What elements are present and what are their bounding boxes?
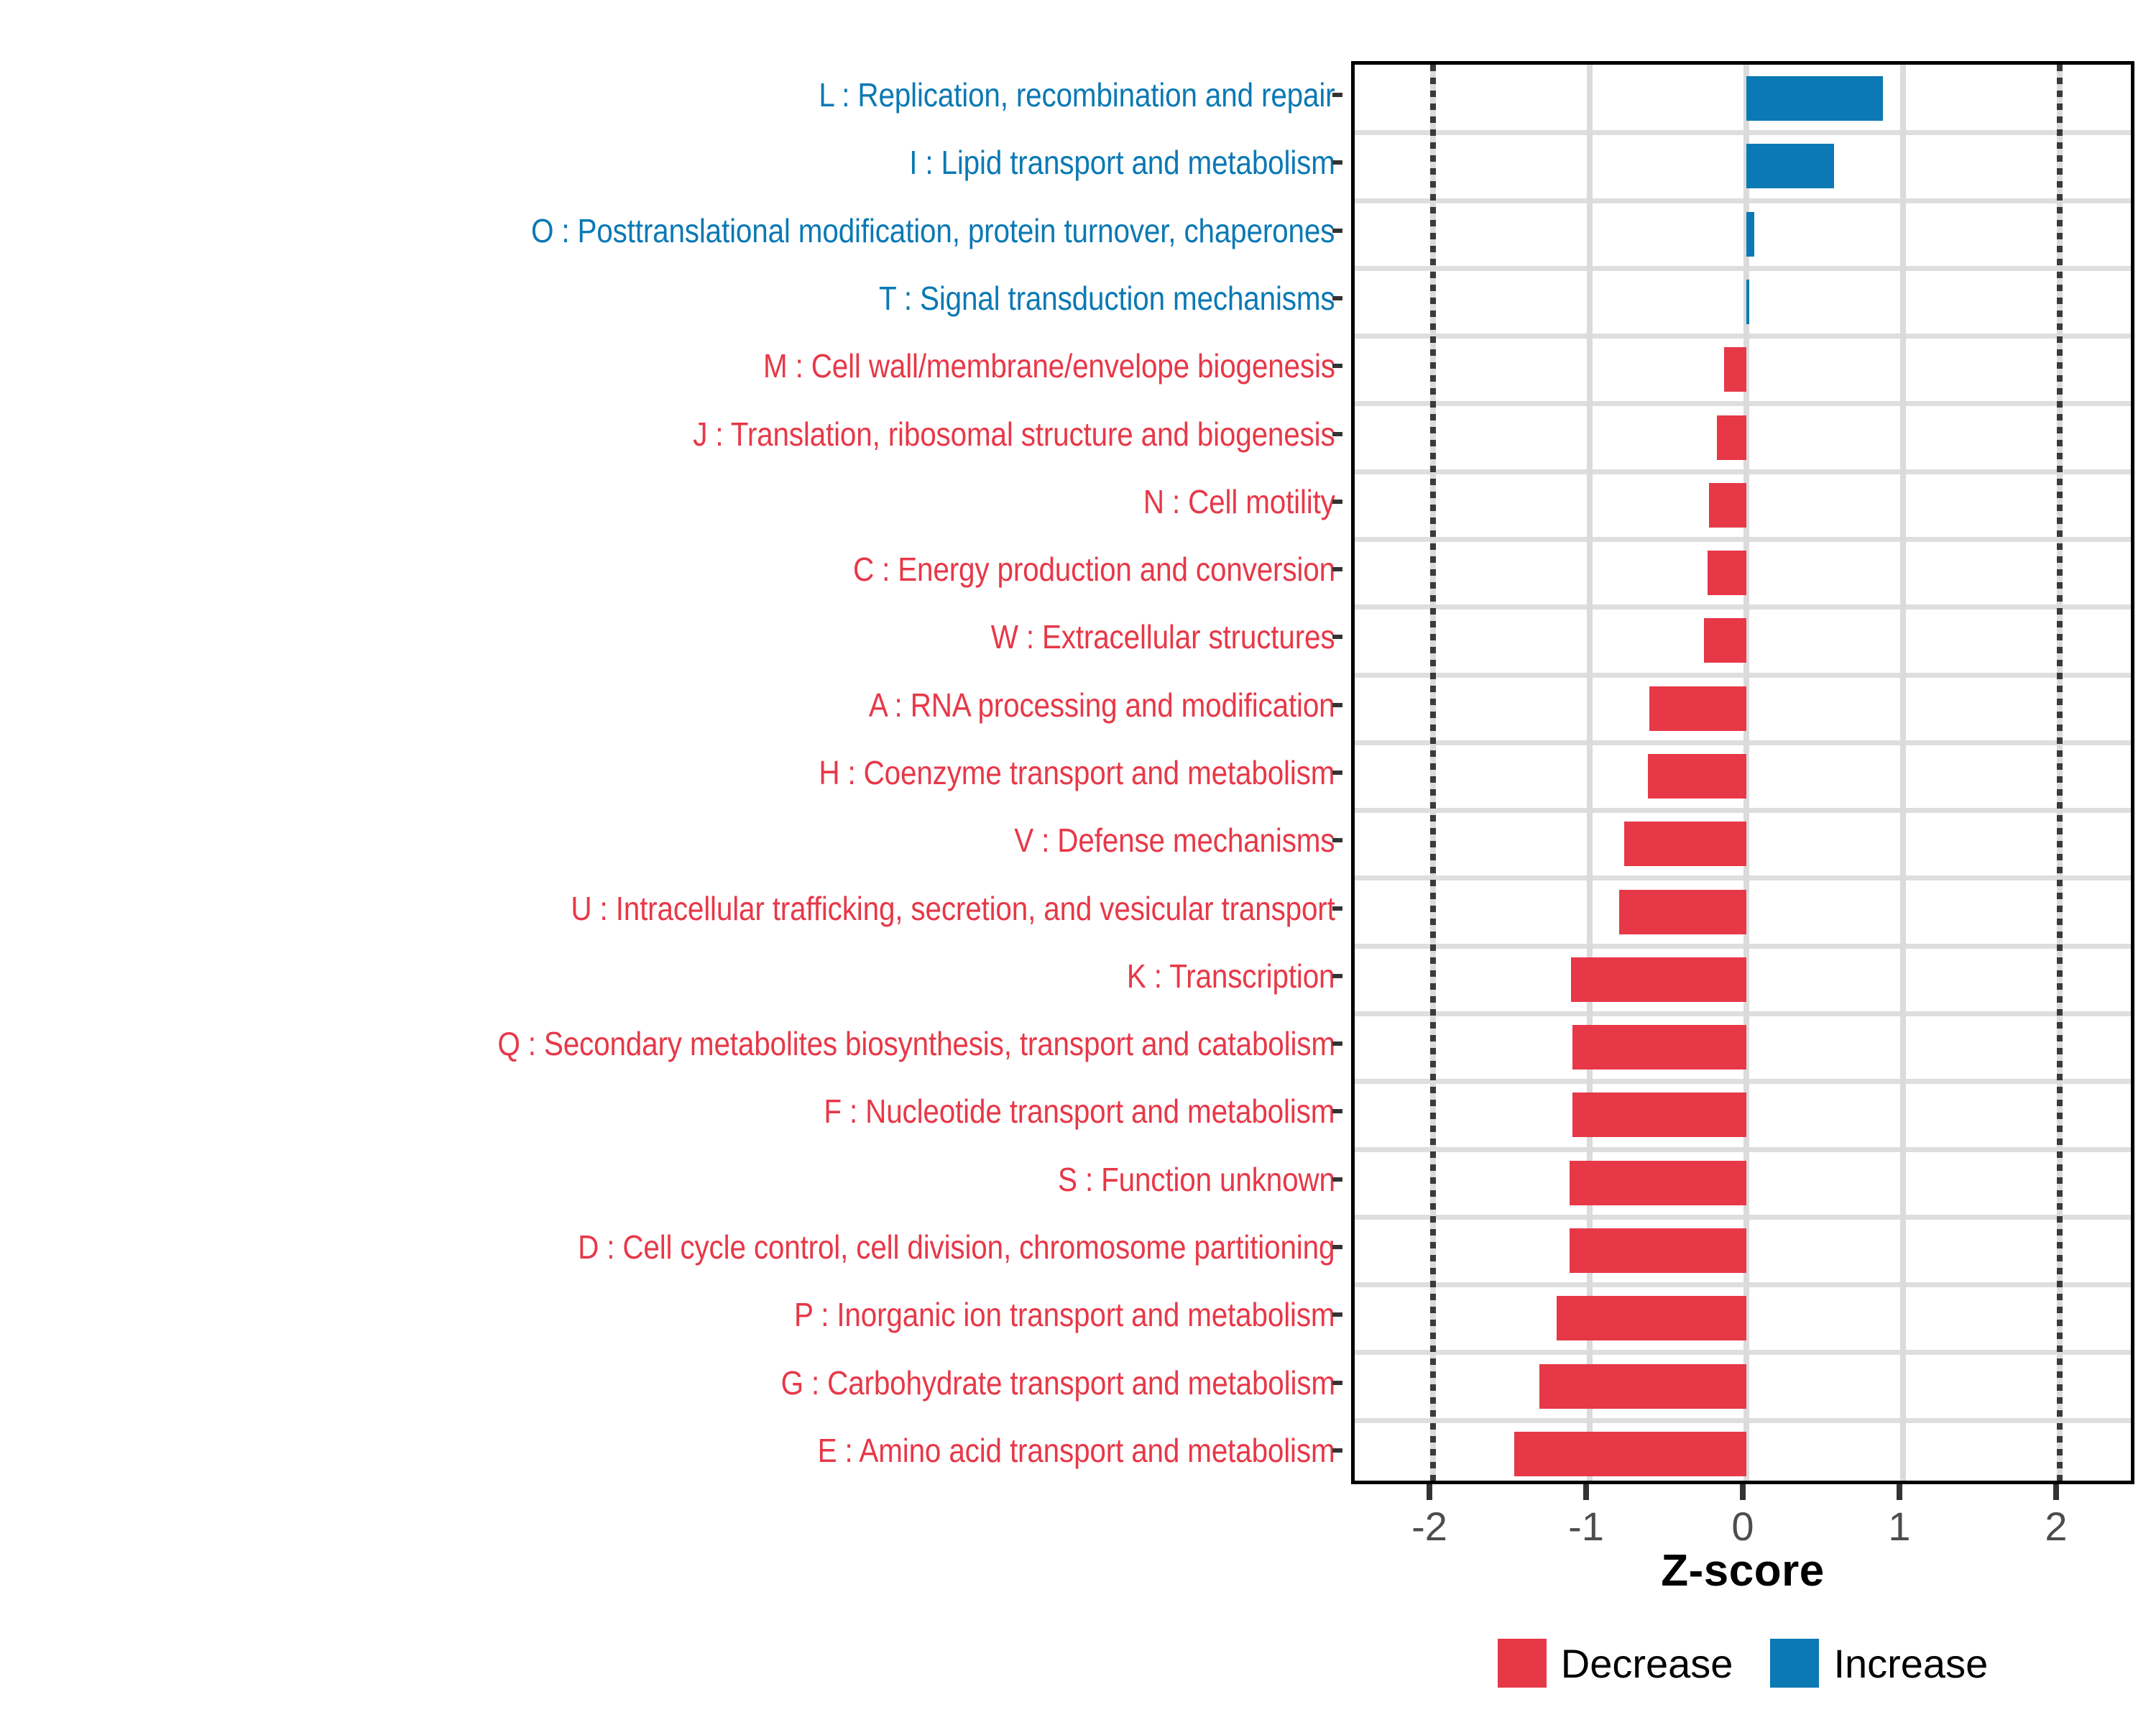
bar xyxy=(1572,1092,1746,1137)
bar xyxy=(1724,347,1746,392)
horizontal-gridline xyxy=(1355,1350,2131,1355)
legend-swatch xyxy=(1498,1639,1547,1688)
category-label-text: N : Cell motility xyxy=(1143,482,1342,521)
y-axis-tick-label: O : Posttranslational modification, prot… xyxy=(0,197,1342,264)
horizontal-gridline xyxy=(1355,130,2131,135)
bar xyxy=(1746,212,1754,257)
y-axis-tick-mark xyxy=(1332,1381,1342,1385)
y-axis-tick-mark xyxy=(1332,500,1342,504)
y-axis-tick-label: P : Inorganic ion transport and metaboli… xyxy=(0,1281,1342,1348)
x-axis-tick-label: -1 xyxy=(1568,1503,1604,1550)
y-axis-tick-label: H : Coenzyme transport and metabolism xyxy=(0,739,1342,806)
cog-category-zscore-bar-chart: L : Replication, recombination and repai… xyxy=(0,0,2156,1725)
category-label-text: W : Extracellular structures xyxy=(991,617,1342,656)
horizontal-gridline xyxy=(1355,198,2131,203)
bar xyxy=(1649,686,1746,731)
bar xyxy=(1571,957,1746,1002)
reference-line xyxy=(1430,65,1436,1481)
category-label-text: H : Coenzyme transport and metabolism xyxy=(819,753,1342,792)
y-axis-tick-mark xyxy=(1332,1245,1342,1249)
x-axis-tick-mark xyxy=(1583,1484,1589,1500)
y-axis-tick-mark xyxy=(1332,1312,1342,1317)
chart-legend: DecreaseIncrease xyxy=(1351,1639,2134,1688)
y-axis-tick-mark xyxy=(1332,703,1342,707)
x-axis-tick-label: -2 xyxy=(1411,1503,1447,1550)
y-axis-tick-label: L : Replication, recombination and repai… xyxy=(0,61,1342,129)
bar xyxy=(1572,1025,1746,1069)
category-label-text: E : Amino acid transport and metabolism xyxy=(818,1431,1342,1470)
category-label-text: U : Intracellular trafficking, secretion… xyxy=(571,889,1342,928)
y-axis-tick-label: I : Lipid transport and metabolism xyxy=(0,129,1342,196)
category-label-text: C : Energy production and conversion xyxy=(852,550,1342,589)
y-axis-tick-label: G : Carbohydrate transport and metabolis… xyxy=(0,1348,1342,1416)
bar xyxy=(1570,1228,1746,1273)
x-axis-tick-label: 1 xyxy=(1888,1503,1910,1550)
category-label-text: I : Lipid transport and metabolism xyxy=(909,143,1342,182)
bar xyxy=(1557,1296,1746,1340)
bar xyxy=(1648,754,1746,799)
horizontal-gridline xyxy=(1355,401,2131,406)
y-axis-tick-label: T : Signal transduction mechanisms xyxy=(0,264,1342,332)
y-axis-tick-mark xyxy=(1332,296,1342,300)
bar xyxy=(1709,483,1746,528)
x-axis-tick-label: 0 xyxy=(1731,1503,1754,1550)
x-axis-title: Z-score xyxy=(1351,1545,2134,1596)
bar xyxy=(1746,280,1749,324)
x-axis-tick-mark xyxy=(1897,1484,1902,1500)
category-label-text: Q : Secondary metabolites biosynthesis, … xyxy=(497,1024,1342,1063)
horizontal-gridline xyxy=(1355,333,2131,339)
category-label-text: K : Transcription xyxy=(1127,957,1342,995)
y-axis-tick-mark xyxy=(1332,567,1342,571)
y-axis-tick-mark xyxy=(1332,432,1342,436)
bar xyxy=(1708,551,1747,595)
bar xyxy=(1539,1364,1746,1409)
category-label-text: T : Signal transduction mechanisms xyxy=(879,279,1342,318)
legend-item[interactable]: Decrease xyxy=(1498,1639,1733,1688)
category-label-text: G : Carbohydrate transport and metabolis… xyxy=(780,1363,1342,1402)
y-axis-tick-label: V : Defense mechanisms xyxy=(0,806,1342,874)
y-axis-tick-label: A : RNA processing and modification xyxy=(0,671,1342,739)
bar xyxy=(1746,76,1883,121)
horizontal-gridline xyxy=(1355,266,2131,271)
legend-item[interactable]: Increase xyxy=(1770,1639,1988,1688)
y-axis-tick-mark xyxy=(1332,160,1342,165)
horizontal-gridline xyxy=(1355,604,2131,609)
y-axis-tick-mark xyxy=(1332,1448,1342,1453)
y-axis-tick-mark xyxy=(1332,1041,1342,1046)
category-label-text: O : Posttranslational modification, prot… xyxy=(531,211,1342,250)
x-axis-tick-mark xyxy=(2053,1484,2059,1500)
category-label-text: A : RNA processing and modification xyxy=(869,686,1342,724)
y-axis-tick-label: S : Function unknown xyxy=(0,1146,1342,1213)
y-axis-tick-label: K : Transcription xyxy=(0,942,1342,1010)
horizontal-gridline xyxy=(1355,740,2131,745)
category-label-text: F : Nucleotide transport and metabolism xyxy=(824,1092,1342,1131)
y-axis-tick-mark xyxy=(1332,770,1342,775)
horizontal-gridline xyxy=(1355,808,2131,813)
vertical-gridline xyxy=(1900,65,1906,1481)
y-axis-tick-label: M : Cell wall/membrane/envelope biogenes… xyxy=(0,332,1342,400)
category-label-text: V : Defense mechanisms xyxy=(1014,821,1342,860)
bar xyxy=(1704,618,1746,663)
bar xyxy=(1717,415,1746,460)
category-label-text: S : Function unknown xyxy=(1058,1160,1342,1199)
y-axis-tick-label: U : Intracellular trafficking, secretion… xyxy=(0,874,1342,942)
x-axis-tick-mark xyxy=(1740,1484,1746,1500)
y-axis-tick-mark xyxy=(1332,1109,1342,1113)
y-axis-tick-mark xyxy=(1332,364,1342,368)
plot-panel xyxy=(1351,61,2134,1484)
bar xyxy=(1514,1432,1746,1476)
horizontal-gridline xyxy=(1355,673,2131,678)
y-axis-tick-label: D : Cell cycle control, cell division, c… xyxy=(0,1213,1342,1281)
horizontal-gridline xyxy=(1355,1147,2131,1152)
y-axis-tick-label: Q : Secondary metabolites biosynthesis, … xyxy=(0,1010,1342,1077)
category-label-text: P : Inorganic ion transport and metaboli… xyxy=(794,1295,1342,1334)
bar xyxy=(1624,822,1746,866)
bar xyxy=(1570,1161,1746,1205)
y-axis-tick-mark xyxy=(1332,974,1342,978)
horizontal-gridline xyxy=(1355,1282,2131,1287)
y-axis-tick-mark xyxy=(1332,229,1342,233)
y-axis-tick-mark xyxy=(1332,93,1342,97)
plot-panel-inner xyxy=(1355,65,2131,1481)
legend-swatch xyxy=(1770,1639,1819,1688)
y-axis-tick-mark xyxy=(1332,1177,1342,1182)
y-axis-tick-mark xyxy=(1332,838,1342,842)
category-label-text: L : Replication, recombination and repai… xyxy=(819,75,1342,114)
horizontal-gridline xyxy=(1355,537,2131,542)
horizontal-gridline xyxy=(1355,1418,2131,1423)
reference-line xyxy=(2057,65,2063,1481)
horizontal-gridline xyxy=(1355,875,2131,880)
y-axis-category-labels: L : Replication, recombination and repai… xyxy=(0,61,1342,1484)
horizontal-gridline xyxy=(1355,1079,2131,1084)
bar xyxy=(1619,890,1746,934)
legend-label: Increase xyxy=(1833,1640,1988,1687)
category-label-text: J : Translation, ribosomal structure and… xyxy=(693,415,1342,454)
bar xyxy=(1746,144,1834,188)
category-label-text: M : Cell wall/membrane/envelope biogenes… xyxy=(763,346,1342,385)
x-axis-tick-label: 2 xyxy=(2045,1503,2067,1550)
horizontal-gridline xyxy=(1355,944,2131,949)
y-axis-tick-label: C : Energy production and conversion xyxy=(0,535,1342,603)
y-axis-tick-mark xyxy=(1332,635,1342,639)
horizontal-gridline xyxy=(1355,1215,2131,1220)
y-axis-tick-label: F : Nucleotide transport and metabolism xyxy=(0,1077,1342,1145)
y-axis-tick-label: E : Amino acid transport and metabolism xyxy=(0,1417,1342,1484)
y-axis-tick-label: N : Cell motility xyxy=(0,468,1342,535)
y-axis-tick-label: J : Translation, ribosomal structure and… xyxy=(0,400,1342,467)
horizontal-gridline xyxy=(1355,1011,2131,1016)
category-label-text: D : Cell cycle control, cell division, c… xyxy=(578,1228,1342,1266)
legend-label: Decrease xyxy=(1561,1640,1733,1687)
y-axis-tick-mark xyxy=(1332,906,1342,911)
x-axis-tick-mark xyxy=(1427,1484,1432,1500)
horizontal-gridline xyxy=(1355,469,2131,474)
y-axis-tick-label: W : Extracellular structures xyxy=(0,603,1342,671)
